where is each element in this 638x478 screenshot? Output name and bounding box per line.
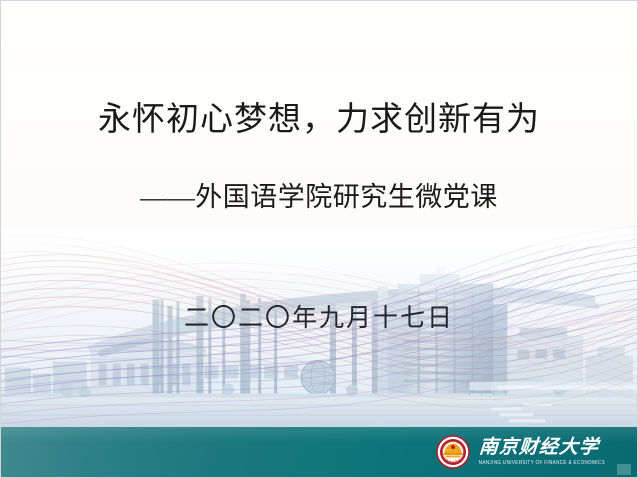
logo-text-block: 南京财经大学 NANJING UNIVERSITY OF FINANCE & E… [479,438,605,466]
slide-main-title: 永怀初心梦想，力求创新有为 [1,101,637,141]
footer-corner-mark [617,464,631,475]
university-seal-icon [436,435,470,469]
background-artwork [1,1,637,477]
presentation-slide: 永怀初心梦想，力求创新有为 ——外国语学院研究生微党课 二〇二〇年九月十七日 [0,0,638,478]
university-name-cn: 南京财经大学 [478,438,606,457]
university-name-en: NANJING UNIVERSITY OF FINANCE & ECONOMIC… [479,461,605,466]
slide-subtitle: ——外国语学院研究生微党课 [1,181,637,213]
slide-date: 二〇二〇年九月十七日 [1,304,637,334]
university-logo-lockup: 南京财经大学 NANJING UNIVERSITY OF FINANCE & E… [436,432,605,472]
footer-band: 南京财经大学 NANJING UNIVERSITY OF FINANCE & E… [1,427,637,477]
